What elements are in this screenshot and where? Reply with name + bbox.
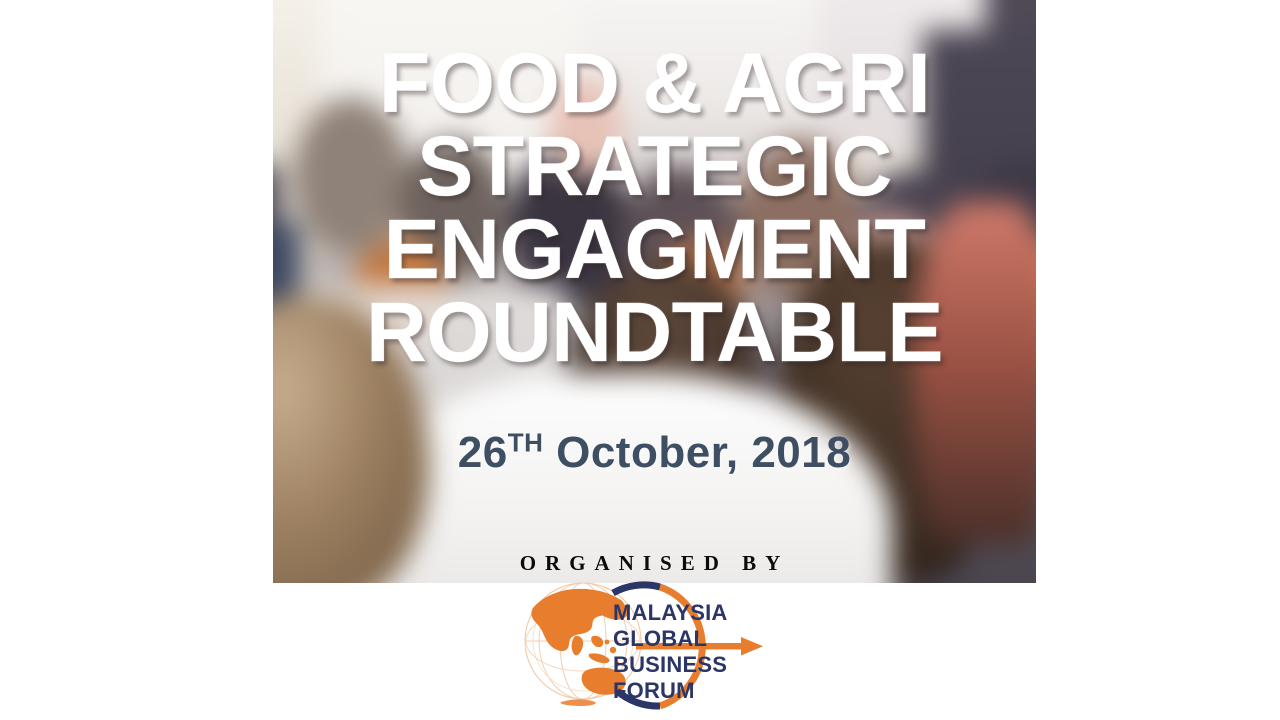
event-poster: FOOD & AGRI STRATEGIC ENGAGMENT ROUNDTAB… bbox=[0, 0, 1280, 720]
organiser-logo: MALAYSIA GLOBAL BUSINESS FORUM bbox=[505, 578, 805, 720]
title-line-2: STRATEGIC bbox=[273, 125, 1036, 208]
event-date-ordinal: TH bbox=[508, 427, 544, 457]
globe-landmass-antarctic bbox=[561, 699, 596, 706]
logo-text-line-1: MALAYSIA bbox=[613, 600, 727, 625]
event-date-rest: October, 2018 bbox=[543, 428, 851, 477]
event-date-day: 26 bbox=[458, 428, 508, 477]
poster-title: FOOD & AGRI STRATEGIC ENGAGMENT ROUNDTAB… bbox=[273, 42, 1036, 375]
logo-text-line-3: BUSINESS bbox=[613, 652, 727, 677]
title-line-1: FOOD & AGRI bbox=[273, 42, 1036, 125]
title-line-3: ENGAGMENT bbox=[273, 208, 1036, 291]
logo-text-line-4: FORUM bbox=[613, 678, 695, 703]
title-line-4: ROUNDTABLE bbox=[273, 291, 1036, 374]
organised-by-label: ORGANISED BY bbox=[273, 551, 1036, 576]
globe-island bbox=[605, 640, 610, 645]
logo-text-line-2: GLOBAL bbox=[613, 626, 707, 651]
event-date: 26TH October, 2018 bbox=[273, 428, 1036, 478]
malaysia-global-business-forum-logo-graphic: MALAYSIA GLOBAL BUSINESS FORUM bbox=[505, 578, 805, 720]
logo-wordmark: MALAYSIA GLOBAL BUSINESS FORUM bbox=[613, 600, 727, 703]
